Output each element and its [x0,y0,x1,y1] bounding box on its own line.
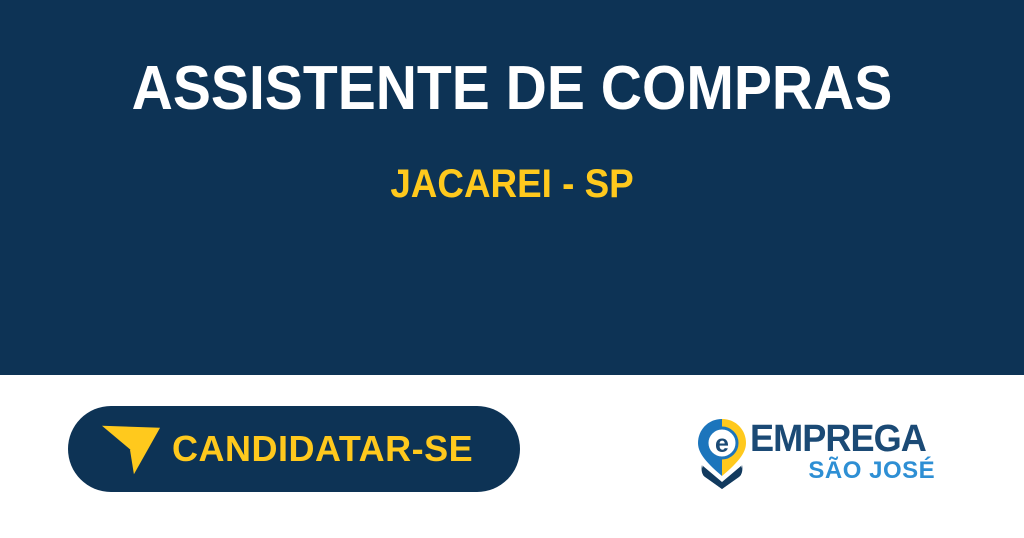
brand-name: EMPREGA [750,420,926,458]
job-location: JACAREI - SP [41,161,983,207]
brand-logo: e EMPREGA SÃO JOSÉ [696,418,924,492]
job-title: ASSISTENTE DE COMPRAS [41,54,983,124]
send-plane-icon [100,418,162,480]
svg-text:e: e [715,430,729,458]
map-pin-e-icon: e [696,418,748,490]
brand-wordmark: EMPREGA SÃO JOSÉ [750,418,935,484]
job-posting-card: ASSISTENTE DE COMPRAS JACAREI - SP CANDI… [0,0,1024,538]
apply-button-label: CANDIDATAR-SE [172,431,473,467]
hero-banner: ASSISTENTE DE COMPRAS JACAREI - SP [0,0,1024,375]
apply-button[interactable]: CANDIDATAR-SE [68,406,520,492]
brand-subname: SÃO JOSÉ [750,458,935,484]
